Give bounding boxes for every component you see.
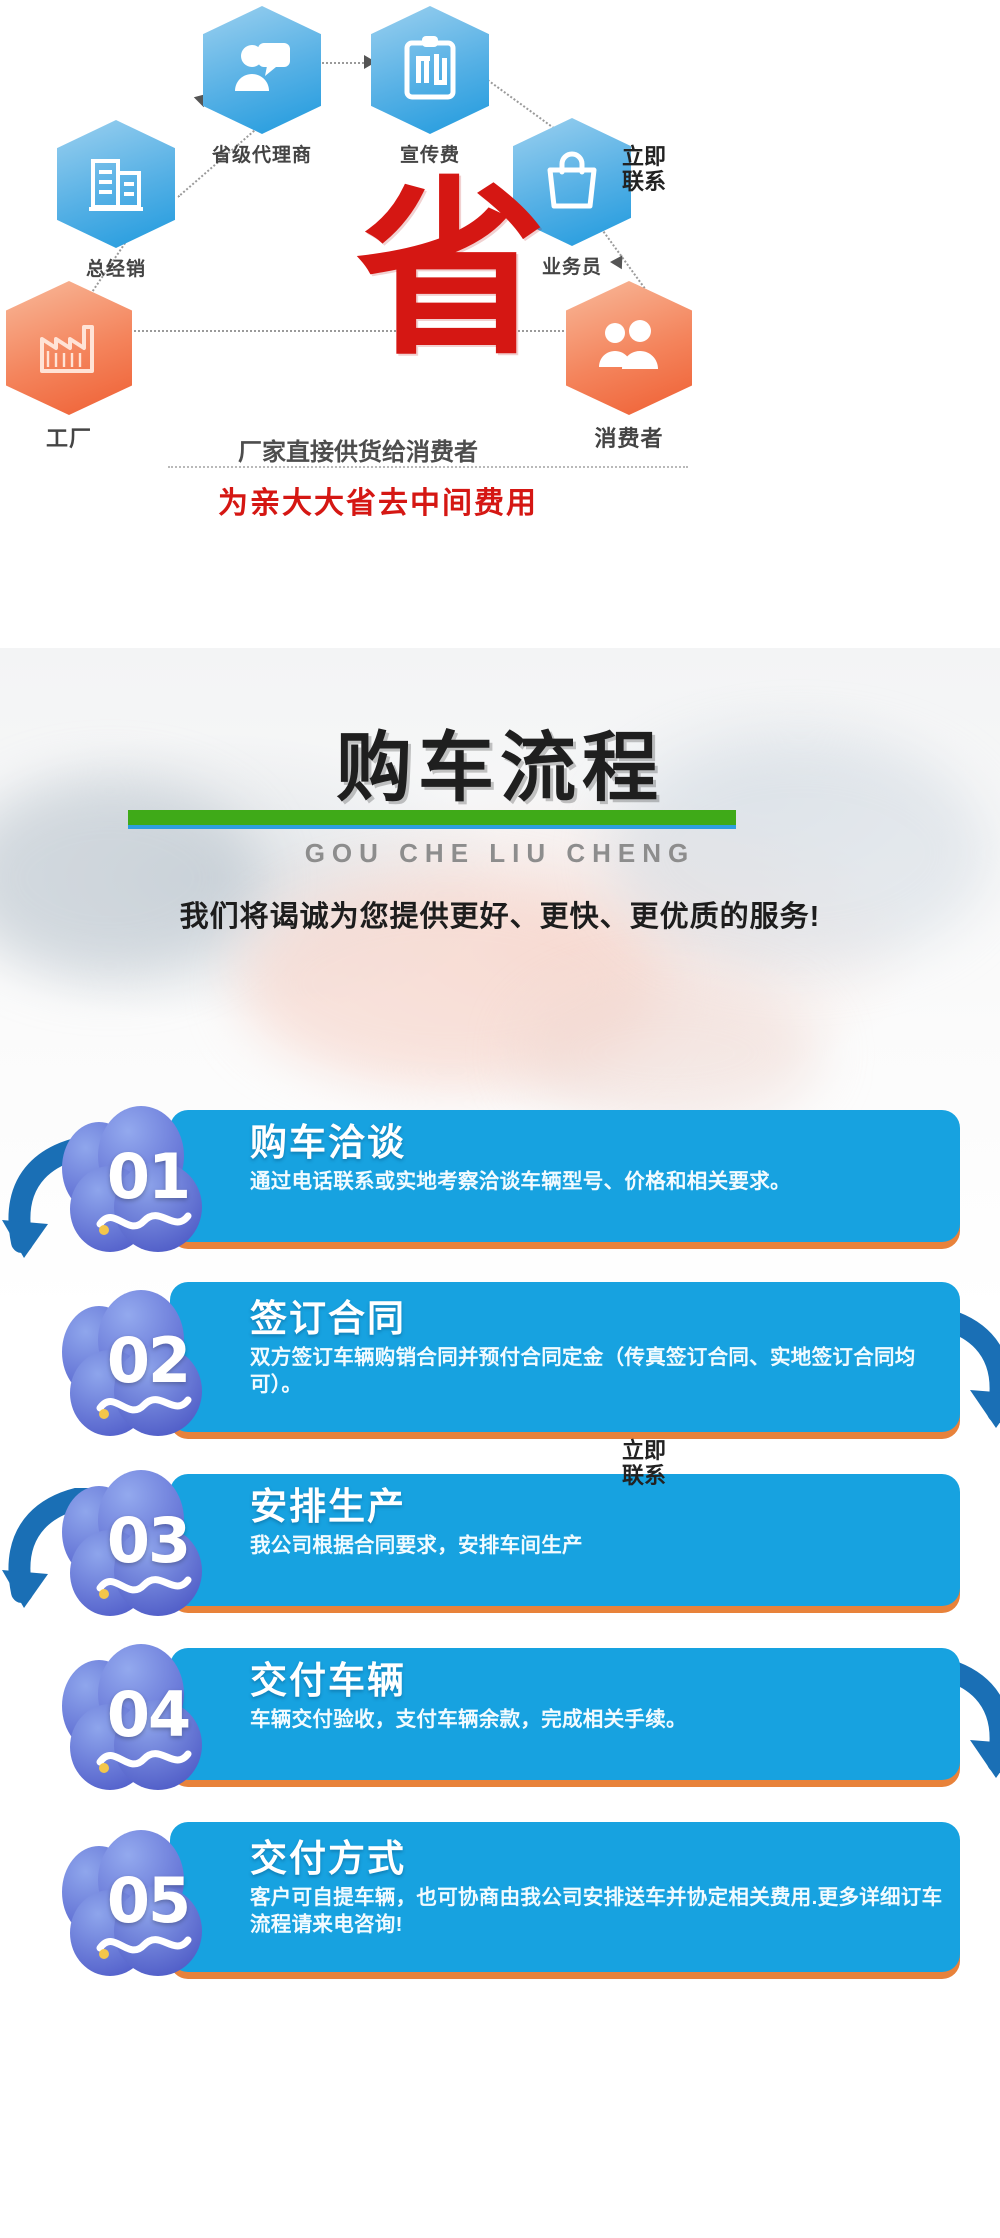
person-chat-icon: [231, 39, 293, 102]
step-03-title: 安排生产: [250, 1486, 950, 1527]
step-03-text: 安排生产 我公司根据合同要求，安排车间生产: [250, 1486, 950, 1559]
step-02-desc: 双方签订车辆购销合同并预付合同定金（传真签订合同、实地签订合同均可）。: [250, 1344, 950, 1398]
node-factory-label: 工厂: [6, 421, 132, 453]
step-01-number: 01: [78, 1140, 218, 1213]
node-factory: 工厂: [6, 281, 132, 453]
process-step-02[interactable]: 02 签订合同 双方签订车辆购销合同并预付合同定金（传真签订合同、实地签订合同均…: [0, 1268, 1000, 1448]
process-step-03[interactable]: 03 安排生产 我公司根据合同要求，安排车间生产: [0, 1460, 1000, 1620]
node-agent-label: 省级代理商: [203, 140, 321, 167]
step-03-desc: 我公司根据合同要求，安排车间生产: [250, 1532, 950, 1559]
promo-hex: [371, 6, 489, 134]
contact-badge-top[interactable]: 立即 联系: [622, 144, 666, 195]
center-tagline-1: 厂家直接供货给消费者: [238, 432, 478, 467]
step-04-desc: 车辆交付验收，支付车辆余款，完成相关手续。: [250, 1706, 950, 1733]
node-consumer-label: 消费者: [566, 421, 692, 453]
factory-icon: [38, 317, 100, 380]
step-03-number: 03: [78, 1504, 218, 1577]
step-02-title: 签订合同: [250, 1298, 950, 1339]
contact-badge-bottom[interactable]: 立即 联系: [622, 1438, 666, 1489]
process-pinyin: GOU CHE LIU CHENG: [305, 838, 696, 869]
step-01-text: 购车洽谈 通过电话联系或实地考察洽谈车辆型号、价格和相关要求。: [250, 1122, 950, 1195]
shopping-bag-icon: [544, 150, 600, 215]
step-01-title: 购车洽谈: [250, 1122, 950, 1163]
big-省-character: 省: [356, 176, 546, 366]
process-title: 购车流程: [336, 706, 664, 816]
step-01-desc: 通过电话联系或实地考察洽谈车辆型号、价格和相关要求。: [250, 1168, 950, 1195]
factory-hex: [6, 281, 132, 415]
node-promo: 宣传费: [371, 6, 489, 167]
master-hex: [57, 120, 175, 248]
process-title-underline: [128, 810, 736, 825]
node-agent: 省级代理商: [203, 6, 321, 167]
node-consumer: 消费者: [566, 281, 692, 453]
step-04-number: 04: [78, 1678, 218, 1751]
step-02-number: 02: [78, 1324, 218, 1397]
step-05-desc: 客户可自提车辆，也可协商由我公司安排送车并协定相关费用.更多详细订车流程请来电咨…: [250, 1884, 950, 1938]
process-step-05[interactable]: 05 交付方式 客户可自提车辆，也可协商由我公司安排送车并协定相关费用.更多详细…: [0, 1808, 1000, 1988]
clipboard-pi-icon: [402, 36, 458, 105]
agent-hex: [203, 6, 321, 134]
step-02-text: 签订合同 双方签订车辆购销合同并预付合同定金（传真签订合同、实地签订合同均可）。: [250, 1298, 950, 1399]
contact-badge-bottom-line2: 联系: [622, 1463, 666, 1488]
bg-blob-left: [0, 778, 260, 978]
node-master-label: 总经销: [57, 254, 175, 281]
two-people-icon: [596, 319, 662, 378]
step-04-squiggle-icon: [96, 1742, 192, 1776]
contact-badge-top-line1: 立即: [622, 144, 666, 169]
consumer-hex: [566, 281, 692, 415]
process-step-01[interactable]: 01 购车洽谈 通过电话联系或实地考察洽谈车辆型号、价格和相关要求。: [0, 1096, 1000, 1256]
step-03-squiggle-icon: [96, 1568, 192, 1602]
contact-badge-bottom-line1: 立即: [622, 1438, 666, 1463]
distribution-diagram-panel: 省级代理商 宣传费: [0, 0, 1000, 648]
center-tagline-2: 为亲大大省去中间费用: [218, 478, 538, 522]
step-04-text: 交付车辆 车辆交付验收，支付车辆余款，完成相关手续。: [250, 1660, 950, 1733]
contact-badge-top-line2: 联系: [622, 169, 666, 194]
process-subtitle: 我们将谒诚为您提供更好、更快、更优质的服务!: [180, 893, 821, 935]
process-step-04[interactable]: 04 交付车辆 车辆交付验收，支付车辆余款，完成相关手续。: [0, 1634, 1000, 1794]
step-01-squiggle-icon: [96, 1204, 192, 1238]
step-05-title: 交付方式: [250, 1838, 950, 1879]
step-05-number: 05: [78, 1864, 218, 1937]
step-04-title: 交付车辆: [250, 1660, 950, 1701]
step-02-squiggle-icon: [96, 1388, 192, 1422]
step-05-text: 交付方式 客户可自提车辆，也可协商由我公司安排送车并协定相关费用.更多详细订车流…: [250, 1838, 950, 1939]
step-05-squiggle-icon: [96, 1928, 192, 1962]
node-master: 总经销: [57, 120, 175, 281]
building-icon: [87, 151, 145, 218]
buying-process-panel: 购车流程 GOU CHE LIU CHENG 我们将谒诚为您提供更好、更快、更优…: [0, 648, 1000, 2238]
